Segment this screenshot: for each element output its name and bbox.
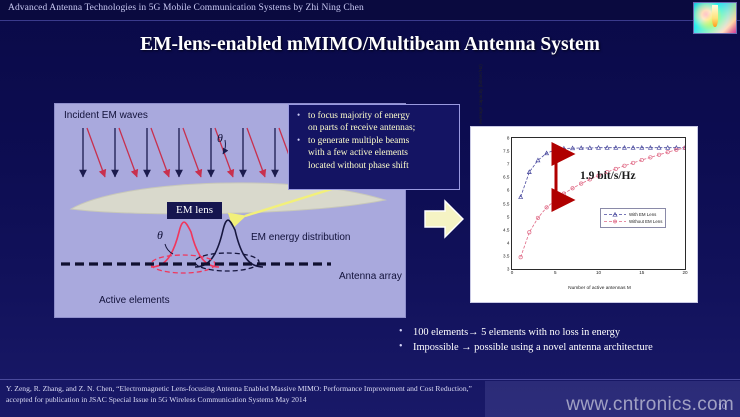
- label-em-lens: EM lens: [167, 202, 222, 219]
- label-incident-em-waves: Incident EM waves: [64, 110, 148, 121]
- callout-list: to focus majority of energy on parts of …: [295, 110, 455, 172]
- legend-swatch-with-lens: [604, 212, 626, 217]
- legend-label: With EM Lens: [629, 211, 656, 218]
- capacity-chart: 3 3.5 4 4.5 5 5.5 6 6.5 7 7.5 8 0 5 10 1…: [470, 126, 698, 303]
- legend-label: Without EM Lens: [629, 218, 662, 225]
- summary-bullets: 100 elements→ 5 elements with no loss in…: [396, 325, 736, 355]
- gain-annotation-label: 1.9 bit/s/Hz: [580, 170, 636, 182]
- y-tick: 8: [507, 136, 510, 141]
- legend-entry: Without EM Lens: [604, 218, 662, 225]
- right-arrow-icon: [424, 198, 464, 240]
- chart-plot-area: 3 3.5 4 4.5 5 5.5 6 6.5 7 7.5 8 0 5 10 1…: [511, 137, 686, 270]
- x-tick: 20: [682, 270, 687, 275]
- y-tick: 5.5: [503, 201, 509, 206]
- y-tick: 7: [507, 162, 510, 167]
- y-tick: 5: [507, 214, 510, 219]
- y-tick: 4.5: [503, 227, 509, 232]
- callout-item: located without phase shift: [295, 160, 455, 172]
- label-theta-bottom: θ: [157, 228, 163, 243]
- page-title: EM-lens-enabled mMIMO/Multibeam Antenna …: [0, 34, 740, 56]
- footer-divider: [0, 379, 740, 380]
- chart-y-axis-label: Average capacity (bit/sec/Hz): [478, 34, 483, 154]
- chart-x-axis-label: Number of active antennas M: [512, 286, 687, 291]
- y-tick: 3.5: [503, 253, 509, 258]
- chart-legend: With EM Lens Without EM Lens: [600, 208, 666, 228]
- x-tick: 10: [596, 270, 601, 275]
- header-title: Advanced Antenna Technologies in 5G Mobi…: [8, 3, 364, 13]
- legend-entry: With EM Lens: [604, 211, 662, 218]
- callout-box: to focus majority of energy on parts of …: [288, 104, 460, 190]
- summary-item: 100 elements→ 5 elements with no loss in…: [396, 325, 736, 340]
- summary-list: 100 elements→ 5 elements with no loss in…: [396, 325, 736, 355]
- callout-item: with a few active elements: [295, 147, 455, 159]
- label-antenna-array: Antenna array: [339, 271, 402, 282]
- summary-item: Impossible → possible using a novel ante…: [396, 340, 736, 355]
- y-tick: 3: [507, 267, 510, 272]
- watermark-text: www.cntronics.com: [566, 394, 734, 416]
- y-tick: 6: [507, 188, 510, 193]
- x-tick: 15: [639, 270, 644, 275]
- x-tick: 0: [511, 270, 514, 275]
- legend-swatch-without-lens: [604, 219, 626, 224]
- callout-item: to focus majority of energy: [295, 110, 455, 122]
- x-tick: 5: [554, 270, 557, 275]
- label-active-elements: Active elements: [99, 295, 170, 306]
- label-theta-top: θ: [217, 131, 223, 146]
- callout-item: to generate multiple beams: [295, 135, 455, 147]
- header-divider: [0, 20, 740, 21]
- y-tick: 4: [507, 240, 510, 245]
- gain-annotation-arrow: [512, 138, 685, 269]
- y-tick: 7.5: [503, 149, 509, 154]
- em-field-simulation-logo-icon: [693, 2, 737, 34]
- callout-item: on parts of receive antennas;: [295, 122, 455, 134]
- label-em-energy-distribution: EM energy distribution: [251, 232, 351, 243]
- slide-root: Advanced Antenna Technologies in 5G Mobi…: [0, 0, 740, 417]
- y-tick: 6.5: [503, 175, 509, 180]
